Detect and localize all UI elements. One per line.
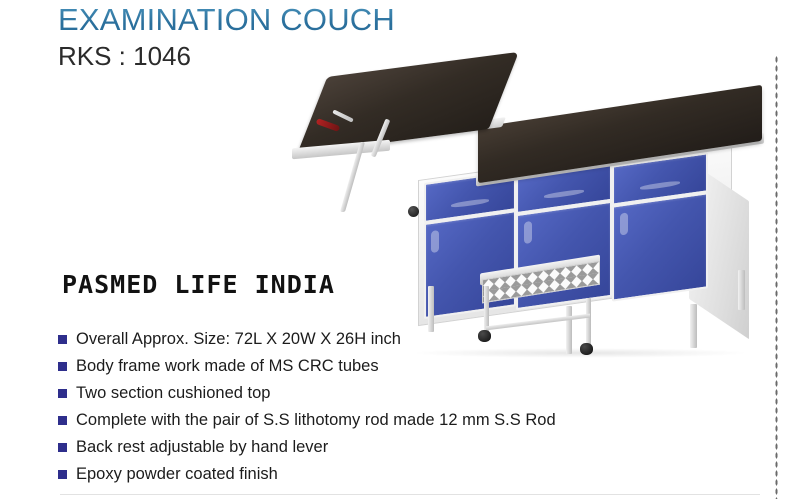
bullet-square-icon — [58, 335, 67, 344]
right-dotted-divider — [775, 55, 778, 499]
cabinet-leg-front-left — [428, 286, 434, 332]
bullet-square-icon — [58, 362, 67, 371]
cabinet-leg-front-right — [690, 304, 697, 348]
feature-text: Body frame work made of MS CRC tubes — [76, 357, 379, 375]
bullet-square-icon — [58, 416, 67, 425]
list-item: Overall Approx. Size: 72L X 20W X 26H in… — [58, 328, 556, 355]
cabinet-door-3 — [612, 192, 708, 301]
brand-name: PASMED LIFE INDIA — [62, 270, 335, 299]
list-item: Epoxy powder coated finish — [58, 463, 556, 490]
feature-list: Overall Approx. Size: 72L X 20W X 26H in… — [58, 328, 556, 490]
product-code: RKS : 1046 — [58, 41, 191, 72]
page-title: EXAMINATION COUCH — [58, 2, 395, 38]
feature-text: Two section cushioned top — [76, 384, 270, 402]
list-item: Complete with the pair of S.S lithotomy … — [58, 409, 556, 436]
feature-text: Epoxy powder coated finish — [76, 465, 278, 483]
pivot-knob — [408, 206, 419, 217]
list-item: Back rest adjustable by hand lever — [58, 436, 556, 463]
cabinet-leg-front-mid — [566, 306, 572, 354]
bullet-square-icon — [58, 470, 67, 479]
product-catalog-page: EXAMINATION COUCH RKS : 1046 — [0, 0, 790, 499]
bottom-separator-rule — [60, 494, 760, 495]
feature-text: Back rest adjustable by hand lever — [76, 438, 328, 456]
castor-wheel-right — [580, 343, 593, 355]
list-item: Body frame work made of MS CRC tubes — [58, 355, 556, 382]
list-item: Two section cushioned top — [58, 382, 556, 409]
cabinet-leg-rear-right — [738, 270, 745, 310]
cabinet-door-1 — [424, 210, 516, 319]
bullet-square-icon — [58, 389, 67, 398]
feature-text: Overall Approx. Size: 72L X 20W X 26H in… — [76, 330, 401, 348]
feature-text: Complete with the pair of S.S lithotomy … — [76, 411, 556, 429]
bullet-square-icon — [58, 443, 67, 452]
product-photo — [290, 58, 770, 363]
foot-step-leg-right — [586, 298, 591, 346]
